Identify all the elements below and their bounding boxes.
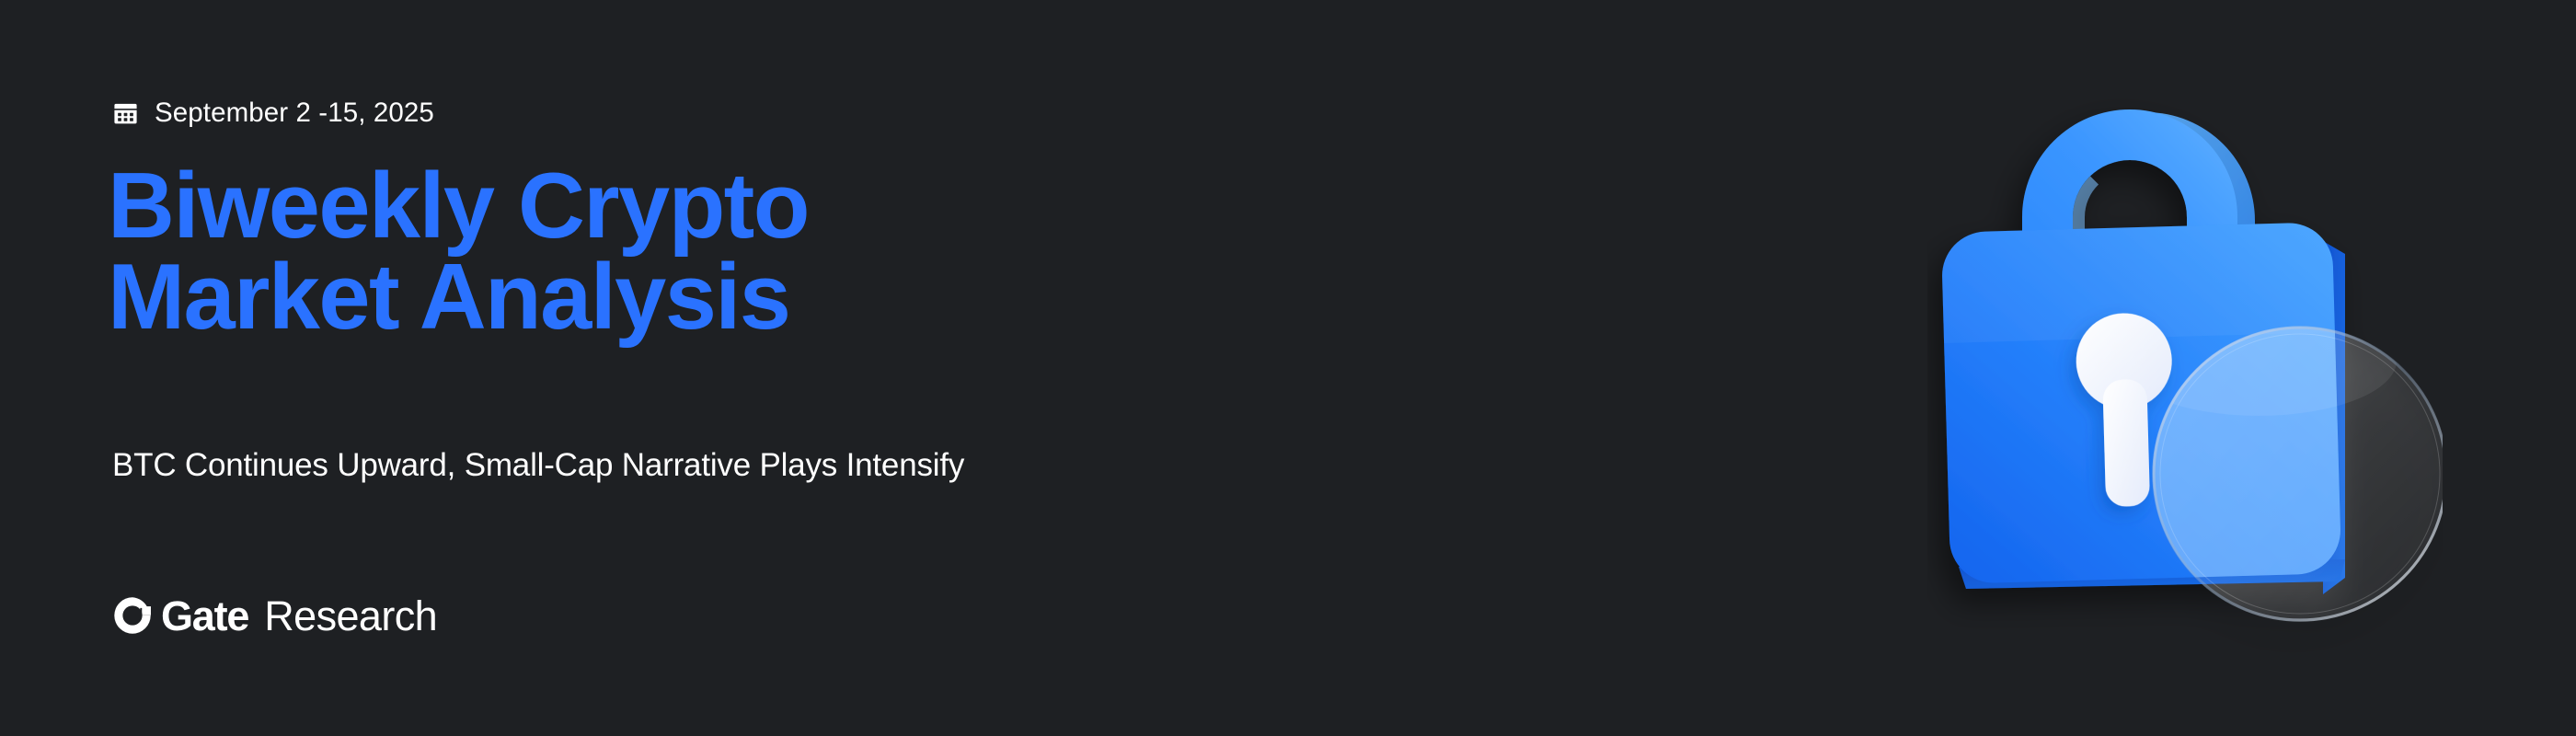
logo-product-text: Research xyxy=(264,595,437,637)
research-banner: September 2 -15, 2025 Biweekly Crypto Ma… xyxy=(0,0,2576,736)
date-row: September 2 -15, 2025 xyxy=(112,97,434,130)
banner-content: September 2 -15, 2025 Biweekly Crypto Ma… xyxy=(112,0,1492,736)
gate-logo-mark-icon xyxy=(112,595,153,636)
date-range-label: September 2 -15, 2025 xyxy=(155,99,434,127)
calendar-icon xyxy=(112,100,139,127)
logo-brand-text: Gate xyxy=(161,595,248,637)
gate-research-logo: Gate Research xyxy=(112,593,437,638)
subtitle: BTC Continues Upward, Small-Cap Narrativ… xyxy=(112,448,964,484)
padlock-illustration xyxy=(1927,37,2443,662)
padlock-3d-icon xyxy=(1927,37,2443,662)
page-title: Biweekly Crypto Market Analysis xyxy=(108,161,809,343)
